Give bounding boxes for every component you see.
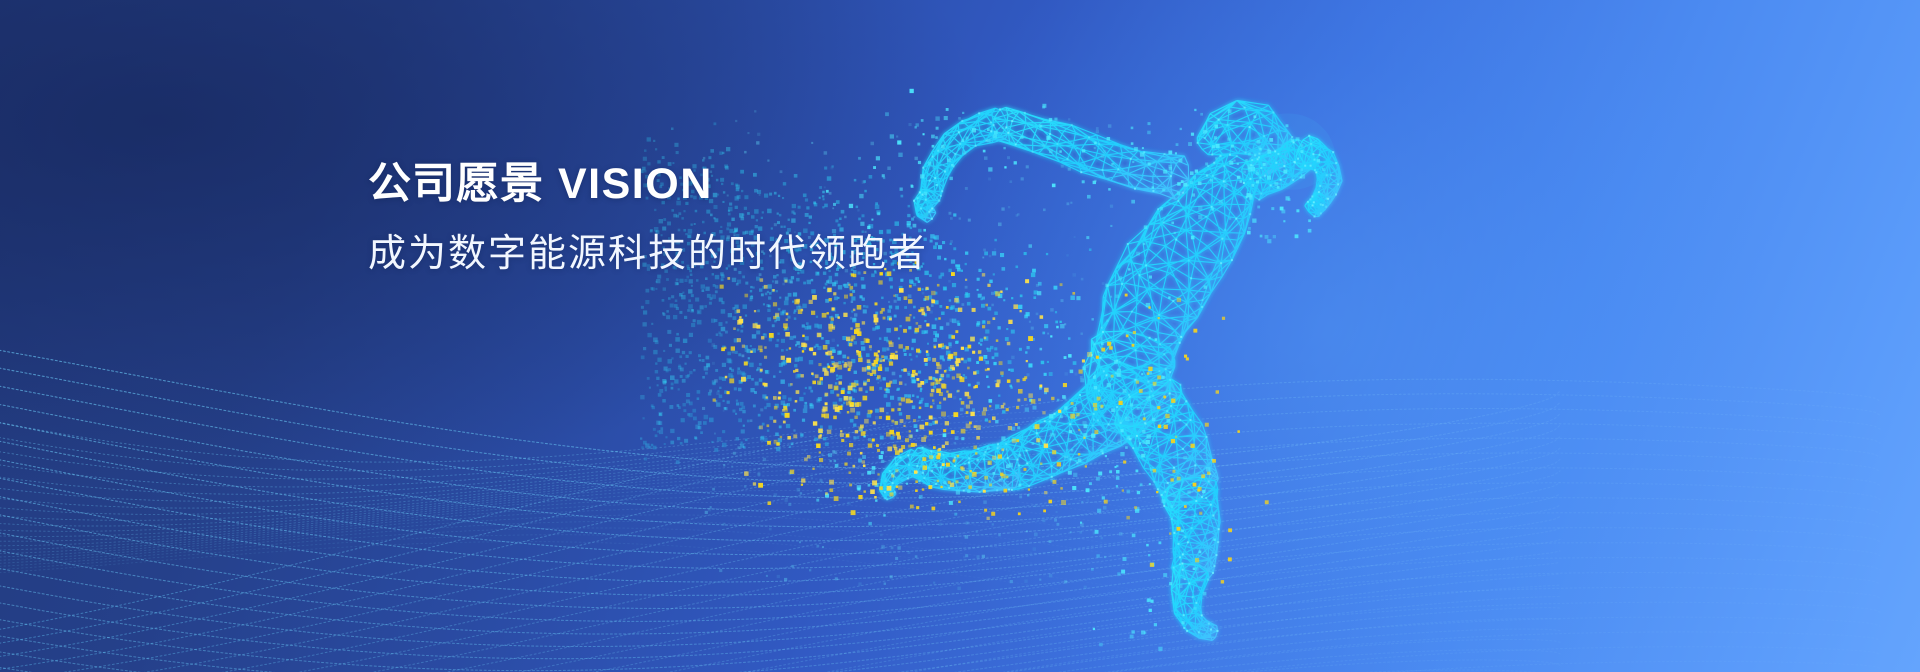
runner-mesh-nodes bbox=[884, 107, 1339, 634]
headline-cn: 公司愿景 bbox=[368, 160, 544, 208]
page-subtitle: 成为数字能源科技的时代领跑者 bbox=[368, 230, 928, 279]
yellow-particles bbox=[713, 261, 1269, 584]
background-vignette bbox=[0, 0, 1920, 672]
background-glow bbox=[880, 0, 1780, 672]
vision-hero-banner: 公司愿景VISION 成为数字能源科技的时代领跑者 bbox=[0, 0, 1920, 672]
page-title: 公司愿景VISION bbox=[368, 158, 928, 212]
headline-en: VISION bbox=[558, 160, 713, 208]
runner-glow-silhouette bbox=[1252, 114, 1335, 190]
wireframe-runner-graphic bbox=[0, 0, 1920, 672]
hero-text-block: 公司愿景VISION 成为数字能源科技的时代领跑者 bbox=[368, 158, 928, 279]
particle-field-graphic bbox=[0, 0, 1920, 672]
wave-lines-graphic bbox=[0, 0, 1920, 672]
runner-mesh-wireframe bbox=[880, 101, 1343, 641]
